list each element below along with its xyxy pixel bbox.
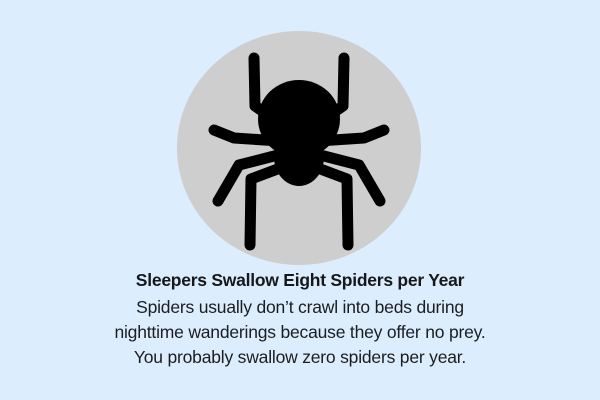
body-line-3: You probably swallow zero spiders per ye… (0, 345, 600, 370)
body-text: Spiders usually don’t crawl into beds du… (0, 293, 600, 370)
spider-icon (177, 31, 421, 265)
caption-block: Sleepers Swallow Eight Spiders per Year … (0, 268, 600, 370)
body-line-2: nighttime wanderings because they offer … (0, 320, 600, 345)
spider-illustration (177, 31, 421, 265)
body-line-1: Spiders usually don’t crawl into beds du… (0, 295, 600, 320)
page-title: Sleepers Swallow Eight Spiders per Year (0, 268, 600, 293)
myth-card: Sleepers Swallow Eight Spiders per Year … (0, 0, 600, 400)
spider-abdomen (258, 80, 340, 158)
leg-right-4 (315, 167, 348, 245)
leg-left-4 (250, 167, 283, 245)
